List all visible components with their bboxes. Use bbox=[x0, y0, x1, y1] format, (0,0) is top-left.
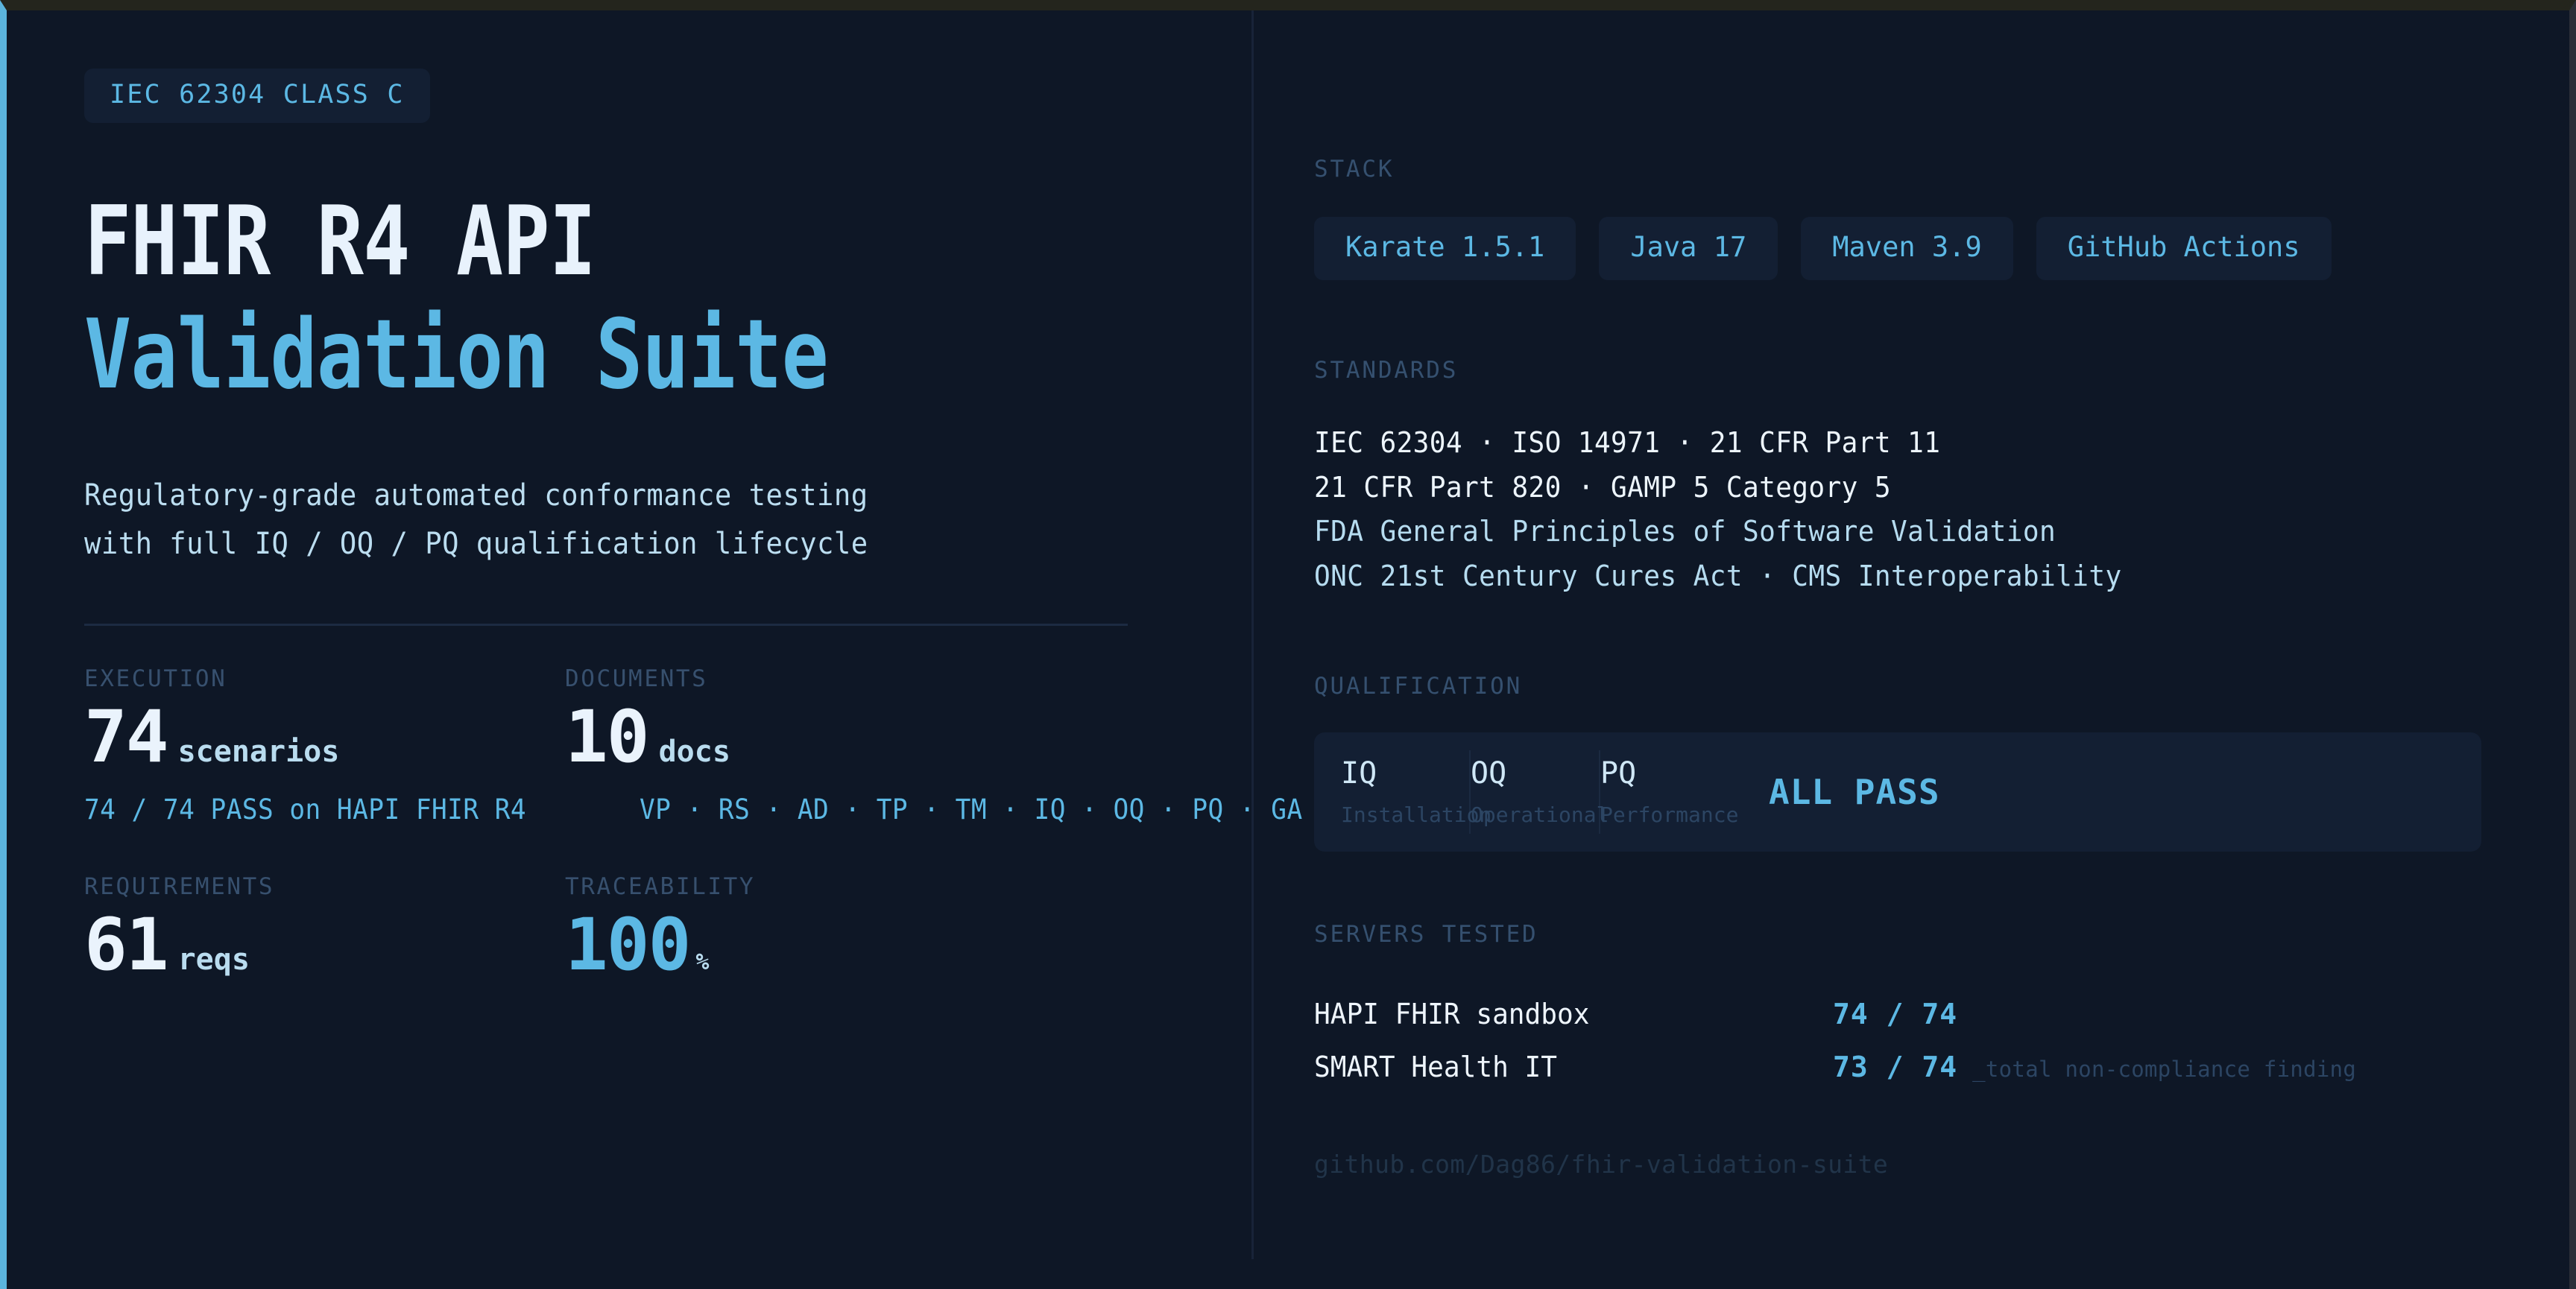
servers-list: HAPI FHIR sandbox 74 / 74 SMART Health I… bbox=[1314, 988, 2569, 1095]
standards-line-2: 21 CFR Part 820 · GAMP 5 Category 5 bbox=[1314, 466, 2507, 510]
server-row-smart-note: _total non-compliance finding bbox=[1972, 1049, 2356, 1090]
qualification-phase-oq-name: Operational bbox=[1471, 805, 1599, 826]
stat-traceability-label: TRACEABILITY bbox=[565, 875, 1046, 899]
stat-traceability: TRACEABILITY 100 % bbox=[565, 875, 1046, 981]
section-divider bbox=[84, 624, 1128, 626]
stack-pill-karate[interactable]: Karate 1.5.1 bbox=[1314, 217, 1576, 280]
standards-line-4: ONC 21st Century Cures Act · CMS Interop… bbox=[1314, 554, 2507, 599]
stat-documents-label: DOCUMENTS bbox=[565, 668, 1046, 691]
stat-requirements: REQUIREMENTS 61 reqs bbox=[84, 875, 565, 981]
page-title: FHIR R4 API Validation Suite bbox=[84, 194, 1037, 403]
stat-traceability-unit: % bbox=[695, 951, 709, 974]
qualification-phase-iq-name: Installation bbox=[1341, 805, 1469, 826]
page-subtitle-line-2: with full IQ / OQ / PQ qualification lif… bbox=[84, 520, 1164, 569]
qualification-section-label: QUALIFICATION bbox=[1314, 675, 2569, 698]
page-title-line-1: FHIR R4 API bbox=[84, 194, 1037, 290]
stat-execution: EXECUTION 74 scenarios bbox=[84, 668, 565, 773]
servers-section-label: SERVERS TESTED bbox=[1314, 923, 2569, 946]
repository-link[interactable]: github.com/Dag86/fhir-validation-suite bbox=[1314, 1150, 2569, 1179]
server-row-smart-score: 73 / 74 bbox=[1833, 1041, 1957, 1094]
stats-row-primary: EXECUTION 74 scenarios DOCUMENTS 10 docs bbox=[84, 668, 1246, 773]
left-column: IEC 62304 CLASS C FHIR R4 API Validation… bbox=[7, 10, 1246, 1289]
server-row-smart-name: SMART Health IT bbox=[1314, 1041, 1807, 1094]
page-subtitle: Regulatory-grade automated conformance t… bbox=[84, 472, 1164, 569]
server-row-hapi-name: HAPI FHIR sandbox bbox=[1314, 988, 1807, 1041]
poster-canvas: IEC 62304 CLASS C FHIR R4 API Validation… bbox=[0, 0, 2576, 1289]
standards-line-3: FDA General Principles of Software Valid… bbox=[1314, 510, 2507, 554]
stat-execution-unit: scenarios bbox=[178, 737, 340, 767]
stat-requirements-unit: reqs bbox=[178, 945, 250, 975]
stack-pill-java[interactable]: Java 17 bbox=[1599, 217, 1778, 280]
qualification-status-badge: ALL PASS bbox=[1769, 772, 1940, 812]
right-column: STACK Karate 1.5.1 Java 17 Maven 3.9 Git… bbox=[1246, 10, 2569, 1289]
pass-rate-caption: 74 / 74 PASS on HAPI FHIR R4 bbox=[84, 794, 526, 826]
standards-section-label: STANDARDS bbox=[1314, 359, 2569, 382]
compliance-class-badge: IEC 62304 CLASS C bbox=[84, 69, 430, 123]
stat-execution-label: EXECUTION bbox=[84, 668, 565, 691]
page-subtitle-line-1: Regulatory-grade automated conformance t… bbox=[84, 472, 1164, 520]
stat-requirements-label: REQUIREMENTS bbox=[84, 875, 565, 899]
qualification-section: QUALIFICATION IQ Installation OQ Operati… bbox=[1314, 675, 2569, 852]
stack-pill-list: Karate 1.5.1 Java 17 Maven 3.9 GitHub Ac… bbox=[1314, 217, 2569, 280]
stat-execution-value: 74 bbox=[84, 701, 168, 773]
qualification-panel: IQ Installation OQ Operational PQ Perfor… bbox=[1314, 732, 2481, 852]
stat-traceability-value: 100 bbox=[565, 909, 689, 981]
stat-documents-value: 10 bbox=[565, 701, 648, 773]
stat-requirements-value: 61 bbox=[84, 909, 168, 981]
server-row-hapi: HAPI FHIR sandbox 74 / 74 bbox=[1314, 988, 2569, 1041]
standards-section: STANDARDS IEC 62304 · ISO 14971 · 21 CFR… bbox=[1314, 359, 2569, 599]
stack-pill-github-actions[interactable]: GitHub Actions bbox=[2036, 217, 2332, 280]
qualification-phase-pq: PQ Performance bbox=[1600, 750, 1742, 834]
server-row-smart: SMART Health IT 73 / 74 _total non-compl… bbox=[1314, 1041, 2569, 1094]
qualification-phase-oq-code: OQ bbox=[1471, 758, 1599, 788]
standards-list: IEC 62304 · ISO 14971 · 21 CFR Part 11 2… bbox=[1314, 421, 2569, 599]
stats-row-secondary: REQUIREMENTS 61 reqs TRACEABILITY 100 % bbox=[84, 875, 1246, 981]
standards-line-1: IEC 62304 · ISO 14971 · 21 CFR Part 11 bbox=[1314, 421, 2507, 466]
stat-documents: DOCUMENTS 10 docs bbox=[565, 668, 1046, 773]
server-row-hapi-score: 74 / 74 bbox=[1833, 988, 1957, 1041]
qualification-phase-iq: IQ Installation bbox=[1341, 750, 1471, 834]
stack-section: STACK Karate 1.5.1 Java 17 Maven 3.9 Git… bbox=[1314, 158, 2569, 280]
qualification-phase-pq-code: PQ bbox=[1600, 758, 1742, 788]
qualification-phase-pq-name: Performance bbox=[1600, 805, 1742, 826]
qualification-phase-oq: OQ Operational bbox=[1471, 750, 1600, 834]
stat-documents-unit: docs bbox=[659, 737, 730, 767]
stack-section-label: STACK bbox=[1314, 158, 2569, 181]
page-title-line-2: Validation Suite bbox=[84, 308, 1037, 403]
stack-pill-maven[interactable]: Maven 3.9 bbox=[1801, 217, 2012, 280]
qualification-phase-iq-code: IQ bbox=[1341, 758, 1469, 788]
servers-section: SERVERS TESTED HAPI FHIR sandbox 74 / 74… bbox=[1314, 923, 2569, 1095]
